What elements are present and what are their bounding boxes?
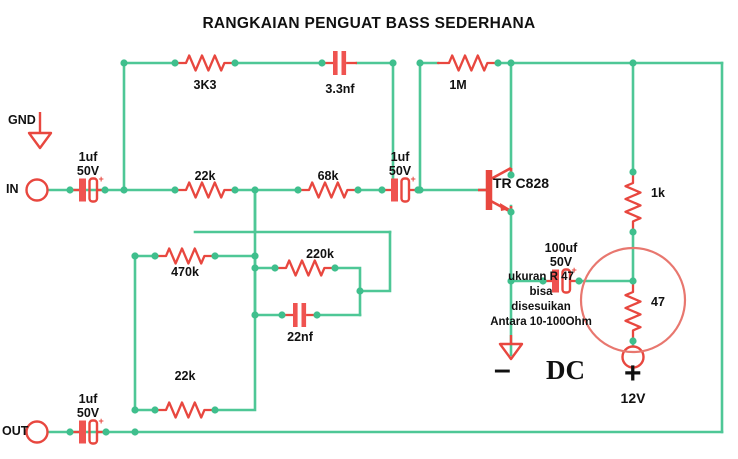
resistor-470k bbox=[155, 249, 215, 264]
output-label: OUT bbox=[2, 424, 28, 438]
capacitor-output-1uf bbox=[70, 416, 106, 444]
capacitor-mid-label-line1: 1uf bbox=[391, 150, 410, 164]
annotation-line-4: Antara 10-100Ohm bbox=[490, 316, 592, 329]
resistor-1k-label: 1k bbox=[651, 186, 665, 200]
resistor-47 bbox=[626, 281, 641, 341]
resistor-22k-output-label: 22k bbox=[175, 369, 196, 383]
wire-470k-node-down bbox=[195, 190, 255, 232]
wire-parallel-to-rail bbox=[360, 232, 390, 291]
resistor-47-label: 47 bbox=[651, 295, 665, 309]
resistor-220k bbox=[275, 261, 335, 276]
capacitor-3p3nf-label: 3.3nf bbox=[325, 82, 354, 96]
resistor-22k-input bbox=[175, 183, 235, 198]
resistor-470k-label: 470k bbox=[171, 265, 199, 279]
wire-220k-right bbox=[335, 268, 360, 315]
capacitor-22nf-label: 22nf bbox=[287, 330, 313, 344]
resistor-1k bbox=[626, 172, 641, 232]
resistor-1m bbox=[438, 56, 498, 71]
resistor-3k3-label: 3K3 bbox=[194, 78, 217, 92]
capacitor-output-label-line1: 1uf bbox=[79, 392, 98, 406]
resistor-220k-label: 220k bbox=[306, 247, 334, 261]
capacitor-input-1uf bbox=[70, 174, 106, 202]
capacitor-mid-label-line2: 50V bbox=[389, 164, 411, 178]
resistor-22k-input-label: 22k bbox=[195, 169, 216, 183]
annotation-line-3: disesuikan bbox=[511, 301, 570, 314]
input-terminal-circle[interactable] bbox=[27, 180, 48, 201]
resistor-68k-label: 68k bbox=[318, 169, 339, 183]
power-voltage-label: 12V bbox=[621, 391, 646, 407]
output-terminal-circle[interactable] bbox=[27, 422, 48, 443]
power-positive-symbol: + bbox=[624, 362, 642, 386]
wire-top-1m-left bbox=[420, 63, 438, 190]
capacitor-mid-1uf bbox=[382, 174, 418, 202]
wire-top-cap-right bbox=[357, 63, 393, 190]
power-negative-symbol: – bbox=[494, 358, 511, 382]
resistor-68k bbox=[298, 183, 358, 198]
resistor-1m-label: 1M bbox=[449, 78, 466, 92]
wire-top-feedback bbox=[124, 63, 175, 190]
power-dc-label: DC bbox=[546, 355, 585, 385]
capacitor-input-label-line2: 50V bbox=[77, 164, 99, 178]
wire-out-22k-right bbox=[215, 190, 255, 410]
transistor-label: TR C828 bbox=[493, 176, 549, 192]
annotation-line-2: bisa bbox=[529, 286, 552, 299]
page-title: RANGKAIAN PENGUAT BASS SEDERHANA bbox=[0, 15, 738, 32]
capacitor-3p3nf bbox=[322, 51, 357, 75]
capacitor-emitter-label-line1: 100uf bbox=[545, 241, 578, 255]
schematic-canvas: + bbox=[0, 0, 738, 459]
capacitor-emitter-label-line2: 50V bbox=[550, 255, 572, 269]
capacitor-22nf bbox=[282, 303, 317, 327]
resistor-3k3 bbox=[175, 56, 235, 71]
gnd-label: GND bbox=[8, 113, 36, 127]
capacitor-output-label-line2: 50V bbox=[77, 406, 99, 420]
wire-470k-right bbox=[215, 256, 255, 268]
resistor-22k-output bbox=[155, 403, 215, 418]
input-label: IN bbox=[6, 182, 19, 196]
annotation-line-1: ukuran R 47 bbox=[508, 271, 574, 284]
wire-network bbox=[48, 63, 722, 432]
capacitor-input-label-line1: 1uf bbox=[79, 150, 98, 164]
